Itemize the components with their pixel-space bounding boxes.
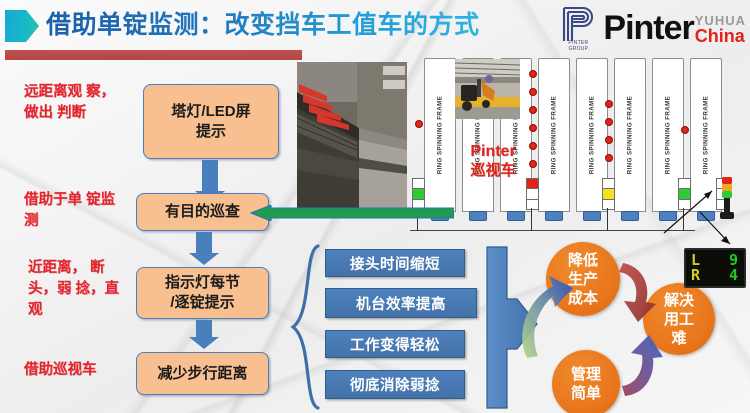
patrol-cart	[583, 211, 601, 221]
break-dot	[605, 100, 613, 108]
led-row-right-value: 4	[729, 268, 738, 283]
caption-close-range: 近距离， 断头，弱 捻，直观	[28, 258, 128, 321]
frame-label: RING SPINNING FRAME	[703, 96, 710, 174]
led-display: L 9 R 4	[684, 248, 746, 288]
caption-single-spindle-monitor: 借助于单 锭监测	[24, 190, 124, 232]
frame-status-light-yellow	[602, 178, 615, 210]
break-dot	[529, 124, 537, 132]
result-box-machine-efficiency[interactable]: 机台效率提高	[325, 288, 477, 318]
logo-group-text: PINTER GROUP	[558, 41, 598, 52]
floor-rail	[410, 230, 695, 231]
green-left-arrow-icon	[249, 205, 454, 221]
flow-box-tower-led-alert[interactable]: 塔灯/LED屏 提示	[143, 84, 279, 159]
pinter-p-logo-icon: PINTER GROUP	[558, 5, 598, 51]
frame-label: RING SPINNING FRAME	[437, 96, 444, 174]
break-dot	[529, 88, 537, 96]
break-dot	[605, 136, 613, 144]
frame-label: RING SPINNING FRAME	[665, 96, 672, 174]
rail-tick	[531, 208, 532, 230]
break-dot	[529, 70, 537, 78]
led-row-right-label: R	[691, 268, 700, 283]
patrol-cart	[469, 211, 487, 221]
flow-box-indicator-per-section[interactable]: 指示灯每节 /逐锭提示	[136, 267, 269, 319]
break-dot	[415, 120, 423, 128]
patrol-cart	[545, 211, 563, 221]
result-box-eliminate-weak-twist[interactable]: 彻底消除弱捻	[325, 370, 465, 399]
frame-label: RING SPINNING FRAME	[589, 96, 596, 174]
title-underline-bar	[5, 50, 302, 60]
break-dot	[605, 154, 613, 162]
patrol-cart	[507, 211, 525, 221]
ring-spinning-frame-4: RING SPINNING FRAME	[538, 58, 570, 212]
brace-icon	[288, 243, 322, 411]
pinter-logo: PINTER GROUP Pinter YUHUA China	[558, 3, 746, 53]
ring-spinning-frame-6: RING SPINNING FRAME	[614, 58, 646, 212]
page-title: 借助单锭监测：改变挡车工值车的方式	[46, 7, 566, 43]
frame-label: RING SPINNING FRAME	[627, 96, 634, 174]
caption-far-observation: 远距离观 察，做出 判断	[24, 82, 124, 124]
result-box-easier-work[interactable]: 工作变得轻松	[325, 330, 465, 358]
caption-patrol-car: 借助巡视车	[24, 360, 144, 381]
chevron-right-icon	[5, 10, 39, 42]
logo-yuhua-text: YUHUA	[695, 14, 746, 27]
logo-china-text: China	[695, 27, 746, 45]
frame-status-light-red	[526, 178, 539, 210]
spinning-mill-photo	[297, 62, 407, 212]
flow-box-reduce-walking[interactable]: 减少步行距离	[136, 352, 269, 395]
ring-spinning-frame-1: RING SPINNING FRAME	[424, 58, 456, 212]
flow-arrow-1	[202, 160, 218, 192]
break-dot	[681, 126, 689, 134]
rail-tick	[607, 208, 608, 230]
slide-canvas: 借助单锭监测：改变挡车工值车的方式 PINTER GROUP Pinter YU…	[0, 0, 750, 413]
break-dot	[529, 106, 537, 114]
flow-arrow-2	[196, 232, 212, 254]
patrol-car-photo	[455, 59, 520, 119]
patrol-car-label: Pinter 巡视车	[452, 142, 534, 180]
result-box-splice-time[interactable]: 接头时间缩短	[325, 249, 465, 277]
logo-wordmark: Pinter	[603, 11, 693, 45]
patrol-cart	[621, 211, 639, 221]
frame-label: RING SPINNING FRAME	[551, 96, 558, 174]
flow-arrow-3	[196, 320, 212, 338]
break-dot	[605, 118, 613, 126]
